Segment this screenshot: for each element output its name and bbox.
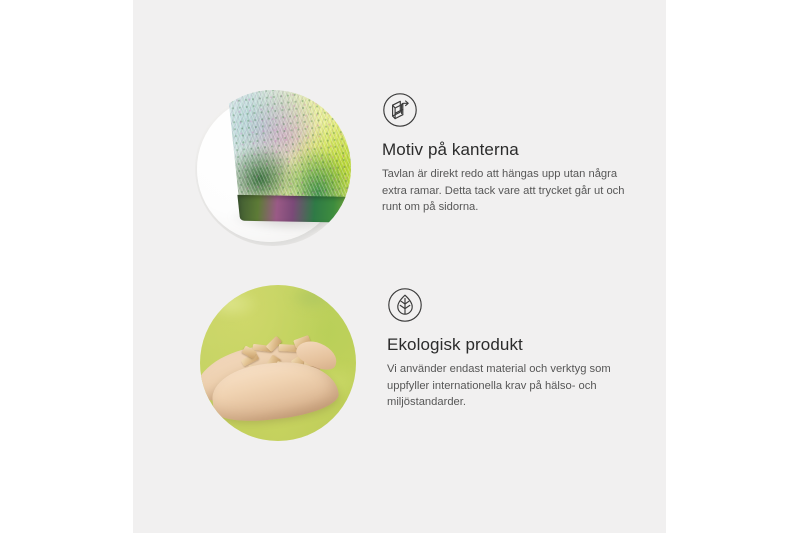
- canvas-print-object: [228, 90, 351, 240]
- feature-text-motiv: Motiv på kanterna Tavlan är direkt redo …: [382, 90, 662, 216]
- canvas-print-photo: [195, 90, 351, 246]
- feature-description: Vi använder endast material och verktyg …: [387, 361, 637, 411]
- product-feature-banner: Motiv på kanterna Tavlan är direkt redo …: [0, 0, 800, 533]
- feature-title: Motiv på kanterna: [382, 140, 662, 160]
- feature-title: Ekologisk produkt: [387, 335, 666, 355]
- canvas-side-edge: [237, 195, 351, 223]
- leaf-icon: [387, 287, 423, 323]
- wood-chips-hands-photo: [200, 285, 356, 441]
- content-stage: Motiv på kanterna Tavlan är direkt redo …: [133, 0, 666, 533]
- feature-description: Tavlan är direkt redo att hängas upp uta…: [382, 166, 632, 216]
- feature-text-ekologisk: Ekologisk produkt Vi använder endast mat…: [387, 285, 666, 411]
- feature-block-ekologisk-produkt: Ekologisk produkt Vi använder endast mat…: [138, 285, 666, 441]
- feature-block-motiv-pa-kanterna: Motiv på kanterna Tavlan är direkt redo …: [133, 90, 662, 246]
- canvas-wrap-edge-icon: [382, 92, 418, 128]
